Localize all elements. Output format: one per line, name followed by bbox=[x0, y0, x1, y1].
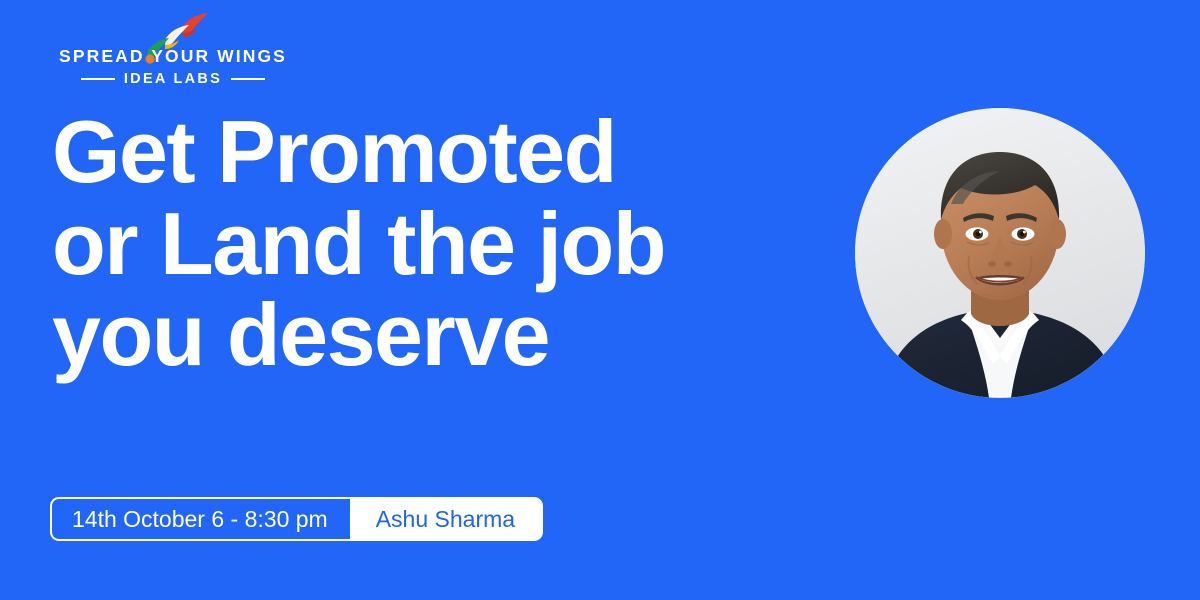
headline-line-3: you deserve bbox=[52, 289, 852, 381]
logo-rule-right bbox=[231, 78, 265, 80]
headline-line-1: Get Promoted bbox=[52, 106, 852, 198]
brand-logo: SPREAD YOUR WINGS IDEA LABS bbox=[58, 14, 288, 90]
page-title: Get Promoted or Land the job you deserve bbox=[52, 106, 852, 381]
event-datetime: 14th October 6 - 8:30 pm bbox=[50, 497, 350, 541]
speaker-portrait bbox=[855, 108, 1145, 398]
headline-line-2: or Land the job bbox=[52, 198, 852, 290]
logo-sub-text: IDEA LABS bbox=[124, 72, 222, 87]
logo-subline: IDEA LABS bbox=[58, 72, 288, 87]
logo-wordmark: SPREAD YOUR WINGS bbox=[58, 48, 288, 66]
event-info-bar: 14th October 6 - 8:30 pm Ashu Sharma bbox=[50, 497, 543, 541]
event-banner: SPREAD YOUR WINGS IDEA LABS Get Promoted… bbox=[0, 0, 1200, 600]
speaker-name-badge: Ashu Sharma bbox=[350, 497, 543, 541]
logo-rule-left bbox=[81, 78, 115, 80]
